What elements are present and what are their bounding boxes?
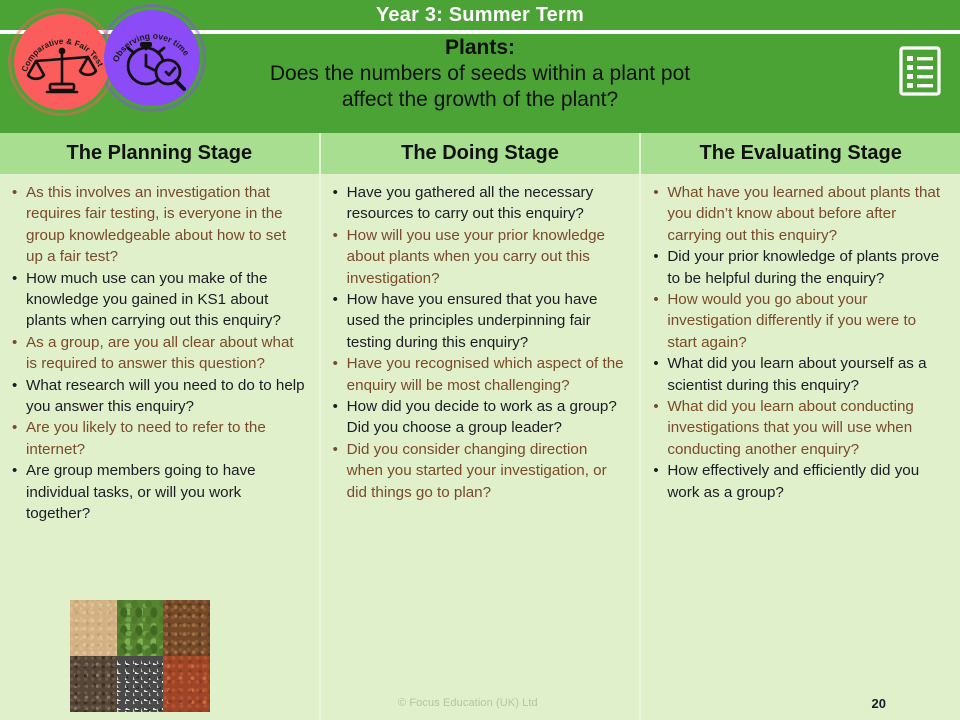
column-evaluating-stage: •What have you learned about plants that…: [641, 174, 960, 720]
bullet-icon: •: [327, 353, 347, 374]
question-text: As this involves an investigation that r…: [26, 182, 309, 268]
question-text: How did you decide to work as a group? D…: [347, 396, 630, 439]
column-planning-stage: •As this involves an investigation that …: [0, 174, 321, 720]
enquiry-type-badges: Comparative & Fair Testing: [8, 8, 218, 120]
question-text: Are group members going to have individu…: [26, 460, 309, 524]
evaluating-question-list: •What have you learned about plants that…: [647, 182, 950, 503]
bullet-icon: •: [6, 268, 26, 289]
list-item: •How effectively and efficiently did you…: [647, 460, 950, 503]
question-text: Have you gathered all the necessary reso…: [347, 182, 630, 225]
stage-heading-planning: The Planning Stage: [0, 133, 321, 174]
question-text: How will you use your prior knowledge ab…: [347, 225, 630, 289]
list-item: •What did you learn about yourself as a …: [647, 353, 950, 396]
question-text: What have you learned about plants that …: [667, 182, 950, 246]
stage-heading-evaluating: The Evaluating Stage: [641, 133, 960, 174]
badge-observing-over-time[interactable]: Observing over time: [104, 10, 200, 106]
seed-photo-wheat-seeds: [70, 600, 117, 656]
enquiry-question-line-2: affect the growth of the plant?: [170, 87, 790, 113]
list-item: •How have you ensured that you have used…: [327, 289, 630, 353]
list-item: •How will you use your prior knowledge a…: [327, 225, 630, 289]
bullet-icon: •: [6, 417, 26, 438]
list-item: •As a group, are you all clear about wha…: [6, 332, 309, 375]
header: Year 3: Summer Term Plants: Does the num…: [0, 0, 960, 133]
slide-root: Year 3: Summer Term Plants: Does the num…: [0, 0, 960, 720]
question-text: Did your prior knowledge of plants prove…: [667, 246, 950, 289]
seed-photo-pumpkin-seeds: [117, 600, 164, 656]
question-text: As a group, are you all clear about what…: [26, 332, 309, 375]
question-text: How have you ensured that you have used …: [347, 289, 630, 353]
question-text: What did you learn about conducting inve…: [667, 396, 950, 460]
subject-label: Plants:: [170, 35, 790, 61]
checklist-icon[interactable]: [898, 46, 942, 96]
stage-heading-doing: The Doing Stage: [321, 133, 642, 174]
list-item: •What research will you need to do to he…: [6, 375, 309, 418]
question-text: Did you consider changing direction when…: [347, 439, 630, 503]
balance-scale-icon: [14, 14, 110, 110]
question-text: What did you learn about yourself as a s…: [667, 353, 950, 396]
bullet-icon: •: [647, 460, 667, 481]
enquiry-question-line-1: Does the numbers of seeds within a plant…: [170, 61, 790, 87]
bullet-icon: •: [6, 332, 26, 353]
question-text: Have you recognised which aspect of the …: [347, 353, 630, 396]
doing-question-list: •Have you gathered all the necessary res…: [327, 182, 630, 503]
seed-photo-red-brown-seeds: [163, 656, 210, 712]
list-item: •How did you decide to work as a group? …: [327, 396, 630, 439]
bullet-icon: •: [327, 225, 347, 246]
seed-varieties-photo-grid: [70, 600, 210, 712]
badge-comparative-fair-testing[interactable]: Comparative & Fair Testing: [14, 14, 110, 110]
bullet-icon: •: [6, 460, 26, 481]
list-item: •Have you recognised which aspect of the…: [327, 353, 630, 396]
bullet-icon: •: [327, 182, 347, 203]
stopwatch-magnifier-icon: [104, 10, 200, 106]
list-item: •Have you gathered all the necessary res…: [327, 182, 630, 225]
page-title: Plants: Does the numbers of seeds within…: [170, 34, 790, 113]
bullet-icon: •: [6, 182, 26, 203]
list-item: •How would you go about your investigati…: [647, 289, 950, 353]
bullet-icon: •: [327, 439, 347, 460]
seed-photo-brown-mixed-seeds: [163, 600, 210, 656]
list-item: •As this involves an investigation that …: [6, 182, 309, 268]
bullet-icon: •: [647, 396, 667, 417]
bullet-icon: •: [647, 182, 667, 203]
bullet-icon: •: [327, 396, 347, 417]
list-item: •How much use can you make of the knowle…: [6, 268, 309, 332]
seed-photo-sunflower-seeds: [117, 656, 164, 712]
question-text: How effectively and efficiently did you …: [667, 460, 950, 503]
bullet-icon: •: [327, 289, 347, 310]
bullet-icon: •: [647, 246, 667, 267]
list-item: •Did your prior knowledge of plants prov…: [647, 246, 950, 289]
list-item: •Did you consider changing direction whe…: [327, 439, 630, 503]
bullet-icon: •: [647, 353, 667, 374]
list-item: •Are group members going to have individ…: [6, 460, 309, 524]
list-item: •What did you learn about conducting inv…: [647, 396, 950, 460]
question-text: Are you likely to need to refer to the i…: [26, 417, 309, 460]
list-item: •What have you learned about plants that…: [647, 182, 950, 246]
column-doing-stage: •Have you gathered all the necessary res…: [321, 174, 642, 720]
question-text: How much use can you make of the knowled…: [26, 268, 309, 332]
list-item: •Are you likely to need to refer to the …: [6, 417, 309, 460]
planning-question-list: •As this involves an investigation that …: [6, 182, 309, 525]
stage-headings-row: The Planning Stage The Doing Stage The E…: [0, 133, 960, 174]
question-text: What research will you need to do to hel…: [26, 375, 309, 418]
seed-photo-dark-mixed-seeds: [70, 656, 117, 712]
question-text: How would you go about your investigatio…: [667, 289, 950, 353]
bullet-icon: •: [647, 289, 667, 310]
stage-columns: •As this involves an investigation that …: [0, 174, 960, 720]
bullet-icon: •: [6, 375, 26, 396]
